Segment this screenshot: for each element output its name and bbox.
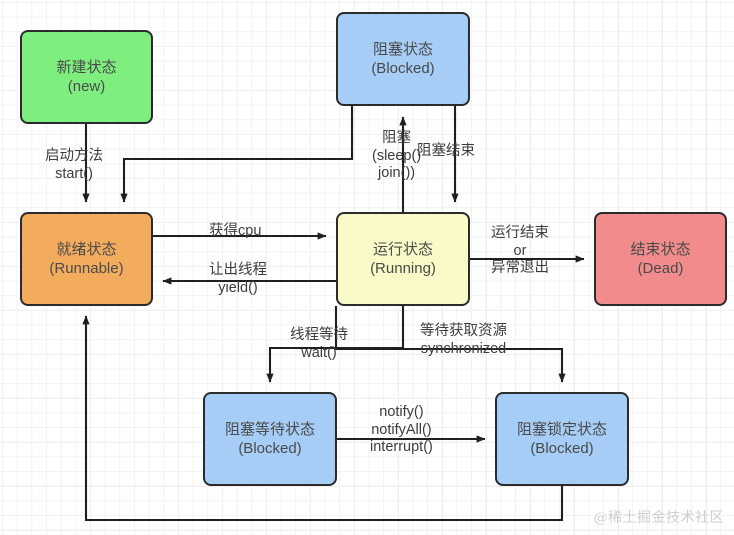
edge-label-wait-line2: wait() xyxy=(290,345,348,363)
edge-label-start: 启动方法 start() xyxy=(45,148,103,183)
node-blocked-locked-label-cn: 阻塞锁定状态 xyxy=(517,420,607,439)
node-new-label-en: (new) xyxy=(68,77,106,96)
edge-label-sleep-line1: 阻塞 xyxy=(372,130,421,148)
node-dead-label-en: (Dead) xyxy=(638,259,684,278)
node-runnable[interactable]: 就绪状态 (Runnable) xyxy=(20,212,153,306)
node-runnable-label-cn: 就绪状态 xyxy=(56,240,116,259)
edge-label-sync-line1: 等待获取资源 xyxy=(420,323,507,341)
edge-label-sleep-line2: (sleep() xyxy=(372,148,421,166)
edge-label-blockend-line1: 阻塞结束 xyxy=(417,143,475,161)
edge-label-notify-line1: notify() xyxy=(370,404,433,422)
edge-label-exit: 运行结束 or 异常退出 xyxy=(491,225,549,278)
edge-label-getcpu: 获得cpu xyxy=(209,223,261,241)
node-dead[interactable]: 结束状态 (Dead) xyxy=(594,212,727,306)
node-running-label-en: (Running) xyxy=(370,259,436,278)
edge-label-sync: 等待获取资源 synchronized xyxy=(420,323,507,358)
node-runnable-label-en: (Runnable) xyxy=(49,259,123,278)
edge-label-sleep-line3: join()) xyxy=(372,165,421,183)
edge-label-blockend: 阻塞结束 xyxy=(417,143,475,161)
node-blocked-waiting-label-en: (Blocked) xyxy=(238,439,301,458)
node-blocked-locked[interactable]: 阻塞锁定状态 (Blocked) xyxy=(495,392,629,486)
edge-label-exit-line3: 异常退出 xyxy=(491,260,549,278)
edge-label-exit-line2: or xyxy=(491,243,549,261)
edge-label-wait: 线程等待 wait() xyxy=(290,327,348,362)
node-running[interactable]: 运行状态 (Running) xyxy=(336,212,470,306)
edge-label-start-line1: 启动方法 xyxy=(45,148,103,166)
node-running-label-cn: 运行状态 xyxy=(373,240,433,259)
edge-label-notify: notify() notifyAll() interrupt() xyxy=(370,404,433,457)
node-blocked-label-en: (Blocked) xyxy=(371,59,434,78)
node-blocked-waiting-label-cn: 阻塞等待状态 xyxy=(225,420,315,439)
node-blocked-waiting[interactable]: 阻塞等待状态 (Blocked) xyxy=(203,392,337,486)
diagram-canvas: 新建状态 (new) 阻塞状态 (Blocked) 就绪状态 (Runnable… xyxy=(0,0,734,535)
edge-label-start-line2: start() xyxy=(45,166,103,184)
edge-label-sleep: 阻塞 (sleep() join()) xyxy=(372,130,421,183)
edge-label-sync-line2: synchronized xyxy=(420,341,507,359)
watermark: @稀土掘金技术社区 xyxy=(594,507,725,527)
node-new-label-cn: 新建状态 xyxy=(56,58,116,77)
edge-label-notify-line3: interrupt() xyxy=(370,439,433,457)
edge-label-yield-line1: 让出线程 xyxy=(209,262,267,280)
node-dead-label-cn: 结束状态 xyxy=(630,240,690,259)
edge-label-getcpu-line1: 获得cpu xyxy=(209,223,261,241)
node-new[interactable]: 新建状态 (new) xyxy=(20,30,153,124)
edge-label-wait-line1: 线程等待 xyxy=(290,327,348,345)
edge-label-notify-line2: notifyAll() xyxy=(370,422,433,440)
edge-block-return xyxy=(124,106,352,202)
edge-label-yield: 让出线程 yield() xyxy=(209,262,267,297)
node-blocked-locked-label-en: (Blocked) xyxy=(530,439,593,458)
node-blocked-label-cn: 阻塞状态 xyxy=(373,40,433,59)
edge-label-yield-line2: yield() xyxy=(209,280,267,298)
node-blocked[interactable]: 阻塞状态 (Blocked) xyxy=(336,12,470,106)
edge-label-exit-line1: 运行结束 xyxy=(491,225,549,243)
